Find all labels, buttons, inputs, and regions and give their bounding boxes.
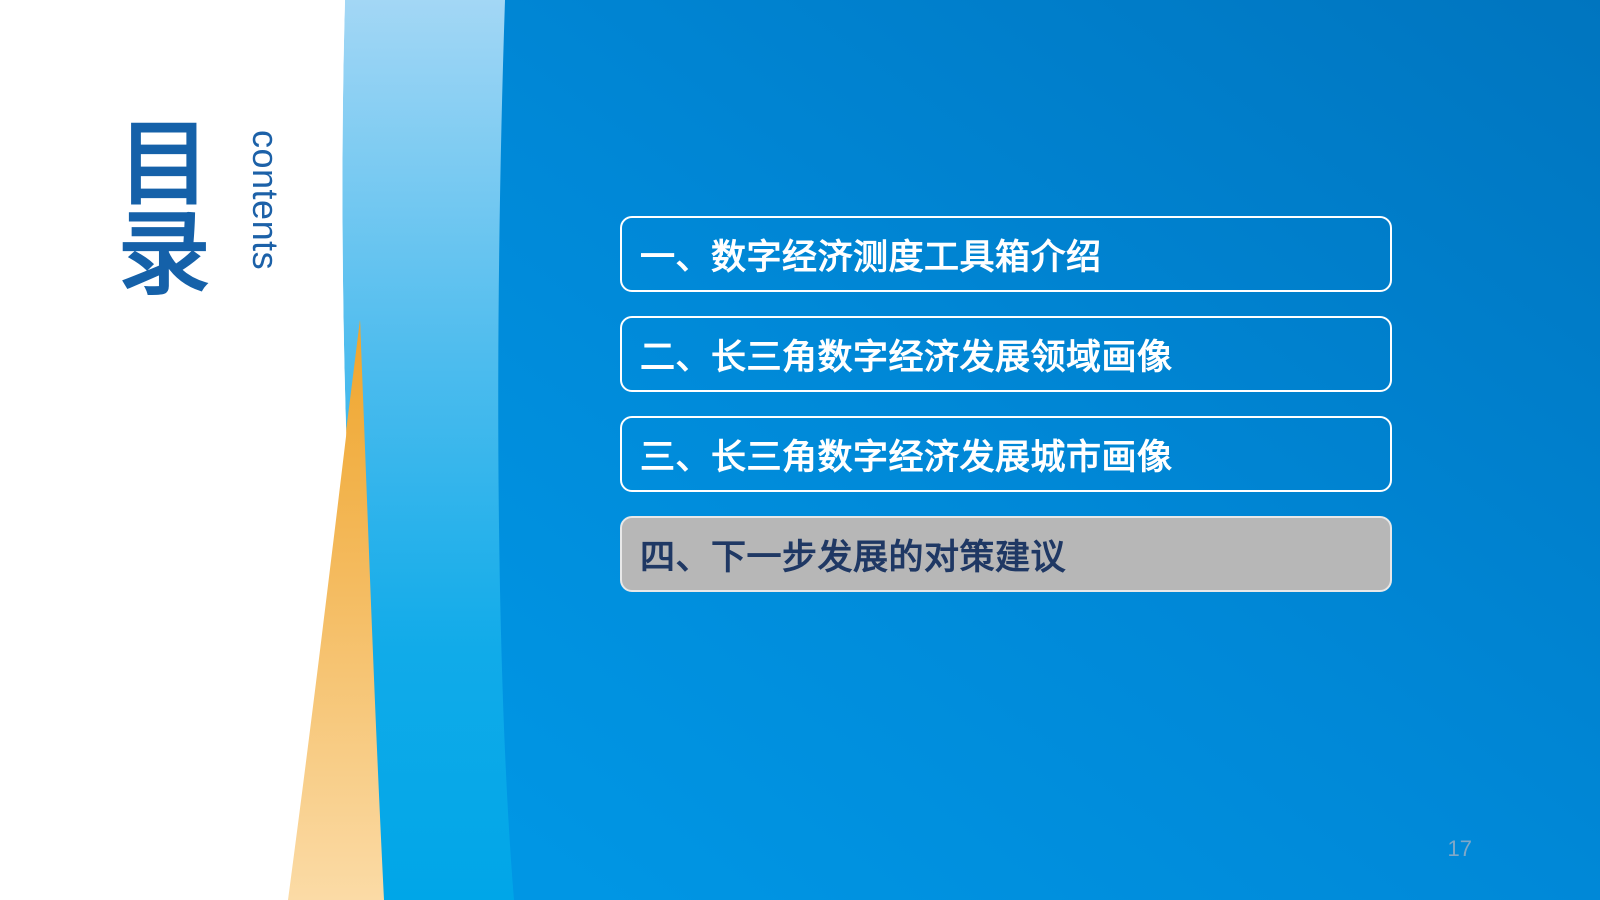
agenda-item-4[interactable]: 四、下一步发展的对策建议 <box>620 516 1392 592</box>
page-number: 17 <box>1448 836 1472 862</box>
agenda-item-1[interactable]: 一、数字经济测度工具箱介绍 <box>620 216 1392 292</box>
agenda-item-2-label: 二、长三角数字经济发展领域画像 <box>640 329 1173 380</box>
slide-canvas: 目录 contents 一、数字经济测度工具箱介绍 二、长三角数字经济发展领域画… <box>0 0 1600 900</box>
contents-label-wrapper: contents <box>246 130 288 330</box>
agenda-list: 一、数字经济测度工具箱介绍 二、长三角数字经济发展领域画像 三、长三角数字经济发… <box>620 216 1392 616</box>
page-title-en: contents <box>244 130 286 270</box>
agenda-item-2[interactable]: 二、长三角数字经济发展领域画像 <box>620 316 1392 392</box>
agenda-item-3-label: 三、长三角数字经济发展城市画像 <box>640 429 1173 480</box>
title-block: 目录 contents <box>118 120 348 350</box>
agenda-item-3[interactable]: 三、长三角数字经济发展城市画像 <box>620 416 1392 492</box>
agenda-item-1-label: 一、数字经济测度工具箱介绍 <box>640 229 1102 280</box>
agenda-item-4-label: 四、下一步发展的对策建议 <box>640 529 1066 580</box>
page-title-cn: 目录 <box>118 120 238 300</box>
